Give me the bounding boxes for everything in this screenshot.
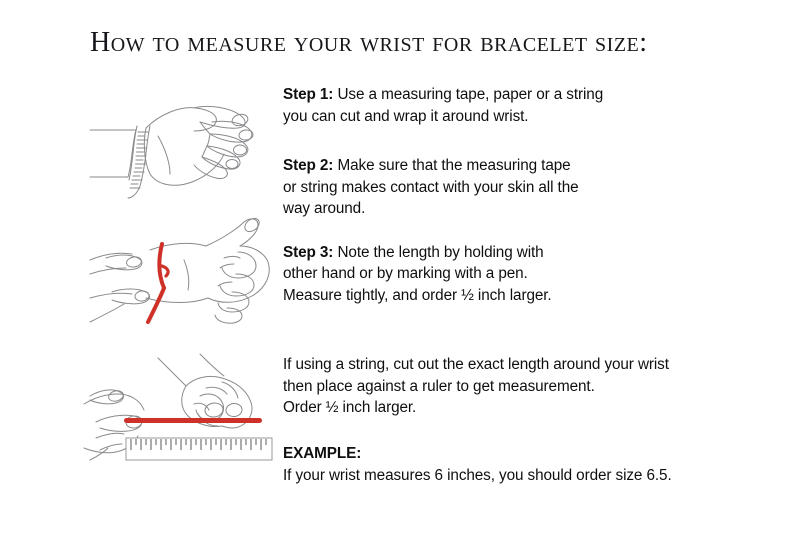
step-1-paragraph: Step 1: Use a measuring tape, paper or a… (283, 84, 743, 127)
note-line-1: If using a string, cut out the exact len… (283, 354, 743, 376)
hand-with-measuring-tape-illustration (88, 82, 278, 200)
step-3-line-1: Note the length by holding with (333, 244, 543, 261)
note-line-2: then place against a ruler to get measur… (283, 376, 743, 398)
page-title: How to measure your wrist for bracelet s… (90, 26, 730, 60)
note-line-3: Order ½ inch larger. (283, 397, 743, 419)
example-heading: EXAMPLE: (283, 443, 743, 465)
fist-with-red-string-illustration (88, 212, 278, 332)
wrist-measuring-guide: How to measure your wrist for bracelet s… (0, 0, 794, 546)
step-2-line-2: or string makes contact with your skin a… (283, 177, 743, 199)
example-body: If your wrist measures 6 inches, you sho… (283, 465, 743, 487)
step-3-label: Step 3: (283, 244, 333, 261)
step-1-line-2: you can cut and wrap it around wrist. (283, 106, 743, 128)
step-1-line-1: Use a measuring tape, paper or a string (333, 86, 603, 103)
instructions-column: Step 1: Use a measuring tape, paper or a… (283, 84, 743, 487)
step-3-line-3: Measure tightly, and order ½ inch larger… (283, 285, 743, 307)
step-2-line-1: Make sure that the measuring tape (333, 157, 570, 174)
step-2-line-3: way around. (283, 198, 743, 220)
string-note-paragraph: If using a string, cut out the exact len… (283, 354, 743, 419)
step-2-label: Step 2: (283, 157, 333, 174)
step-3-line-2: other hand or by marking with a pen. (283, 263, 743, 285)
ruler-shape (126, 438, 272, 460)
step-2-paragraph: Step 2: Make sure that the measuring tap… (283, 155, 743, 220)
step-1-label: Step 1: (283, 86, 333, 103)
string-against-ruler-illustration (82, 352, 282, 492)
step-3-paragraph: Step 3: Note the length by holding with … (283, 242, 743, 307)
